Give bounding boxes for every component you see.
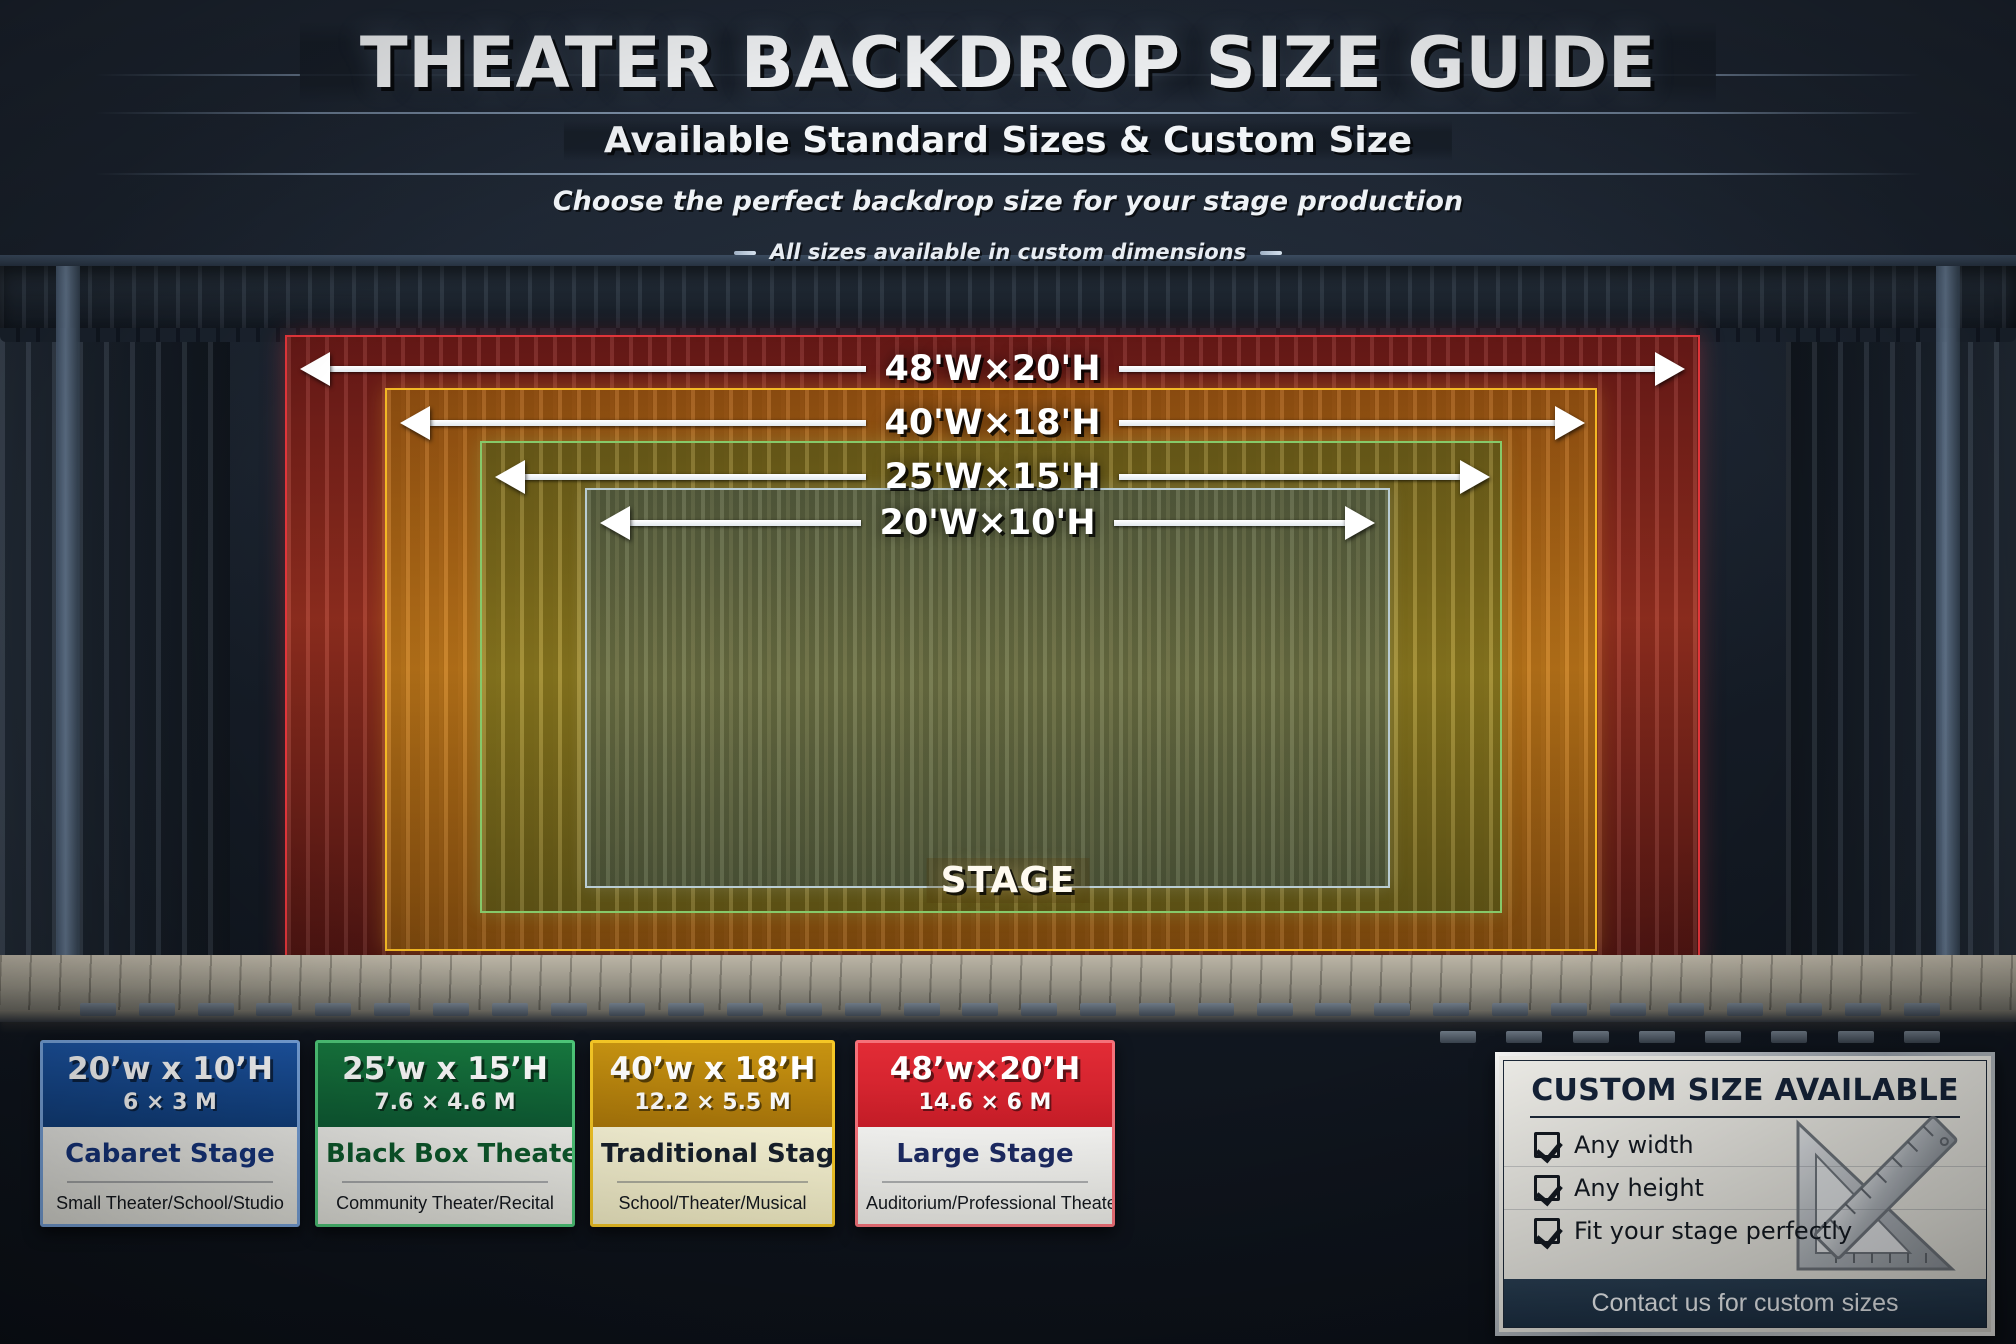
custom-note-text: All sizes available in custom dimensions [770, 240, 1246, 264]
card-title: Large Stage [866, 1139, 1104, 1169]
custom-panel-title: CUSTOM SIZE AVAILABLE [1504, 1061, 1986, 1116]
footlight-dash [80, 1003, 116, 1016]
footlight-dash [1727, 1003, 1763, 1016]
footlight-dash [1198, 1003, 1234, 1016]
size-overlay-20x10 [585, 488, 1390, 888]
footlight-dash [551, 1003, 587, 1016]
card-size-label: 48’w×20’H [864, 1053, 1106, 1086]
card-metric-label: 14.6 × 6 M [864, 1090, 1106, 1115]
page-title: THEATER BACKDROP SIZE GUIDE [300, 22, 1716, 104]
footlight-dash [1668, 1003, 1704, 1016]
card-metric-label: 12.2 × 5.5 M [599, 1090, 826, 1115]
footlight-dash [256, 1003, 292, 1016]
card-title: Black Box Theater [326, 1139, 564, 1169]
dash-right-icon [1260, 251, 1282, 255]
card-header: 20’w x 10’H 6 × 3 M [43, 1043, 297, 1127]
card-usage-label: Auditorium/Professional Theater [866, 1193, 1104, 1214]
page-subtitle: Available Standard Sizes & Custom Size [564, 120, 1452, 161]
contact-cta-label: Contact us for custom sizes [1591, 1289, 1898, 1318]
custom-feature-any-width: Any width [1504, 1124, 1986, 1166]
custom-feature-label: Any height [1574, 1174, 1704, 1202]
footlight-dash [1492, 1003, 1528, 1016]
card-size-label: 20’w x 10’H [49, 1053, 291, 1086]
footlight-dash [1021, 1003, 1057, 1016]
card-divider [67, 1181, 273, 1183]
card-size-label: 25’w x 15’H [324, 1053, 566, 1086]
footlight-dash [786, 1003, 822, 1016]
custom-feature-label: Any width [1574, 1131, 1694, 1159]
stage-label: STAGE [927, 858, 1090, 903]
card-title: Cabaret Stage [51, 1139, 289, 1169]
card-usage-label: Small Theater/School/Studio [51, 1193, 289, 1214]
footlight-dash [1080, 1003, 1116, 1016]
header-divider-bottom [95, 173, 1921, 175]
footlight-dash [433, 1003, 469, 1016]
footlight-dash [374, 1003, 410, 1016]
card-usage-label: Community Theater/Recital [326, 1193, 564, 1214]
card-body: Black Box Theater Community Theater/Reci… [318, 1127, 572, 1224]
size-card-black-box-theater[interactable]: 25’w x 15’H 7.6 × 4.6 M Black Box Theate… [315, 1040, 575, 1227]
card-divider [342, 1181, 548, 1183]
footlight-strip-row-1 [80, 1003, 1940, 1019]
page-tagline: Choose the perfect backdrop size for you… [0, 186, 2016, 217]
size-card-traditional-stage[interactable]: 40’w x 18’H 12.2 × 5.5 M Traditional Sta… [590, 1040, 835, 1227]
card-size-label: 40’w x 18’H [599, 1053, 826, 1086]
header: THEATER BACKDROP SIZE GUIDE Available St… [0, 0, 2016, 278]
footlight-dash [845, 1003, 881, 1016]
card-divider [882, 1181, 1088, 1183]
footlight-dash [1904, 1003, 1940, 1016]
custom-feature-any-height: Any height [1504, 1166, 1986, 1209]
card-header: 25’w x 15’H 7.6 × 4.6 M [318, 1043, 572, 1127]
card-body: Traditional Stage School/Theater/Musical [593, 1127, 832, 1224]
footlight-dash [1315, 1003, 1351, 1016]
footlight-dash [1551, 1003, 1587, 1016]
infographic-root: THEATER BACKDROP SIZE GUIDE Available St… [0, 0, 2016, 1344]
dash-left-icon [734, 251, 756, 255]
card-body: Cabaret Stage Small Theater/School/Studi… [43, 1127, 297, 1224]
size-card-large-stage[interactable]: 48’w×20’H 14.6 × 6 M Large Stage Auditor… [855, 1040, 1115, 1227]
size-card-cabaret-stage[interactable]: 20’w x 10’H 6 × 3 M Cabaret Stage Small … [40, 1040, 300, 1227]
footlight-dash [1374, 1003, 1410, 1016]
custom-panel-inner: CUSTOM SIZE AVAILABLE Any width Any heig… [1503, 1060, 1987, 1328]
footlight-dash [1433, 1003, 1469, 1016]
card-title: Traditional Stage [601, 1139, 824, 1169]
footlight-dash [962, 1003, 998, 1016]
footlight-dash [1139, 1003, 1175, 1016]
card-divider [617, 1181, 808, 1183]
checkbox-checked-icon [1534, 1175, 1560, 1201]
footlight-dash [904, 1003, 940, 1016]
card-body: Large Stage Auditorium/Professional Thea… [858, 1127, 1112, 1224]
header-divider-mid [95, 112, 1921, 114]
footlight-dash [1610, 1003, 1646, 1016]
card-header: 48’w×20’H 14.6 × 6 M [858, 1043, 1112, 1127]
footlight-dash [139, 1003, 175, 1016]
contact-cta-bar[interactable]: Contact us for custom sizes [1504, 1279, 1986, 1327]
stage-diagram: 48'W×20'H 40'W×18'H 25'W×15'H 20'W×10'H … [0, 260, 2016, 960]
footlight-dash [315, 1003, 351, 1016]
card-metric-label: 7.6 × 4.6 M [324, 1090, 566, 1115]
footlight-dash [668, 1003, 704, 1016]
card-usage-label: School/Theater/Musical [601, 1193, 824, 1214]
footlight-dash [492, 1003, 528, 1016]
checkbox-checked-icon [1534, 1218, 1560, 1244]
card-metric-label: 6 × 3 M [49, 1090, 291, 1115]
footlight-dash [1845, 1003, 1881, 1016]
custom-feature-label: Fit your stage perfectly [1574, 1217, 1852, 1245]
footlight-dash [727, 1003, 763, 1016]
footlight-dash [609, 1003, 645, 1016]
custom-size-panel[interactable]: CUSTOM SIZE AVAILABLE Any width Any heig… [1495, 1052, 1995, 1336]
footlight-dash [198, 1003, 234, 1016]
footlight-dash [1257, 1003, 1293, 1016]
checkbox-checked-icon [1534, 1132, 1560, 1158]
card-header: 40’w x 18’H 12.2 × 5.5 M [593, 1043, 832, 1127]
custom-dimensions-note: All sizes available in custom dimensions [0, 240, 2016, 264]
drape-texture [587, 490, 1388, 886]
footlight-dash [1786, 1003, 1822, 1016]
custom-feature-fit-stage: Fit your stage perfectly [1504, 1209, 1986, 1252]
